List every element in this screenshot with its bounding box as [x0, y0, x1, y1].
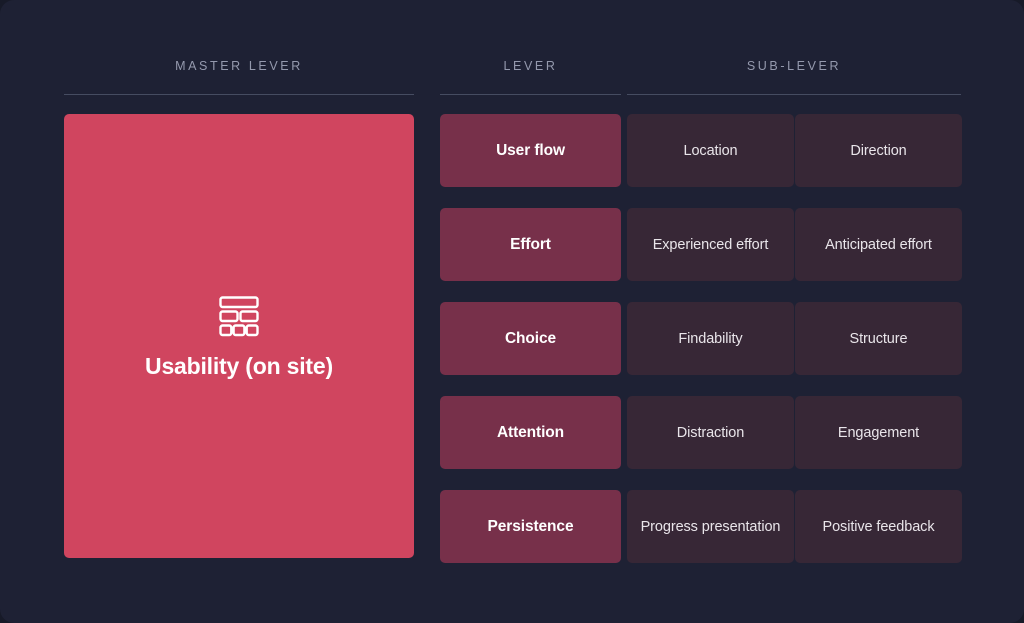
- lever-card-persistence[interactable]: Persistence: [440, 490, 621, 563]
- lever-card-effort[interactable]: Effort: [440, 208, 621, 281]
- lever-row: Effort Experienced effort Anticipated ef…: [0, 208, 1024, 281]
- column-header-master-lever-divider: [64, 94, 414, 95]
- column-header-master-lever: MASTER LEVER: [64, 58, 414, 74]
- lever-card-label: User flow: [496, 141, 565, 161]
- sublever-card-label: Findability: [678, 329, 742, 349]
- column-header-lever: LEVER: [440, 58, 621, 74]
- diagram-canvas: MASTER LEVER LEVER SUB-LEVER Usability (…: [0, 0, 1024, 623]
- sublever-card-positive-feedback[interactable]: Positive feedback: [795, 490, 962, 563]
- column-header-lever-label: LEVER: [440, 58, 621, 74]
- sublever-card-label: Direction: [850, 141, 906, 161]
- column-header-row: MASTER LEVER LEVER SUB-LEVER: [0, 0, 1024, 100]
- column-header-sub-lever-divider: [627, 94, 961, 95]
- sublever-card-engagement[interactable]: Engagement: [795, 396, 962, 469]
- sublever-card-location[interactable]: Location: [627, 114, 794, 187]
- lever-row: User flow Location Direction: [0, 114, 1024, 187]
- sublever-card-label: Positive feedback: [823, 517, 935, 537]
- column-header-sub-lever: SUB-LEVER: [627, 58, 961, 74]
- column-header-sub-lever-label: SUB-LEVER: [627, 58, 961, 74]
- lever-row: Attention Distraction Engagement: [0, 396, 1024, 469]
- sublever-card-distraction[interactable]: Distraction: [627, 396, 794, 469]
- sublever-card-experienced-effort[interactable]: Experienced effort: [627, 208, 794, 281]
- lever-row: Persistence Progress presentation Positi…: [0, 490, 1024, 563]
- sublever-card-findability[interactable]: Findability: [627, 302, 794, 375]
- column-header-master-lever-label: MASTER LEVER: [64, 58, 414, 74]
- sublever-card-label: Distraction: [677, 423, 744, 443]
- sublever-card-label: Progress presentation: [641, 517, 781, 537]
- sublever-card-direction[interactable]: Direction: [795, 114, 962, 187]
- lever-card-user-flow[interactable]: User flow: [440, 114, 621, 187]
- sublever-card-structure[interactable]: Structure: [795, 302, 962, 375]
- lever-card-label: Attention: [497, 423, 564, 443]
- column-header-lever-divider: [440, 94, 621, 95]
- sublever-card-label: Location: [683, 141, 737, 161]
- lever-card-label: Effort: [510, 235, 551, 255]
- sublever-card-label: Experienced effort: [653, 235, 769, 255]
- sublever-card-progress-presentation[interactable]: Progress presentation: [627, 490, 794, 563]
- sublever-card-label: Anticipated effort: [825, 235, 932, 255]
- lever-card-attention[interactable]: Attention: [440, 396, 621, 469]
- sublever-card-anticipated-effort[interactable]: Anticipated effort: [795, 208, 962, 281]
- sublever-card-label: Engagement: [838, 423, 919, 443]
- lever-card-label: Persistence: [488, 517, 574, 537]
- sublever-card-label: Structure: [850, 329, 908, 349]
- lever-row: Choice Findability Structure: [0, 302, 1024, 375]
- lever-card-choice[interactable]: Choice: [440, 302, 621, 375]
- lever-card-label: Choice: [505, 329, 556, 349]
